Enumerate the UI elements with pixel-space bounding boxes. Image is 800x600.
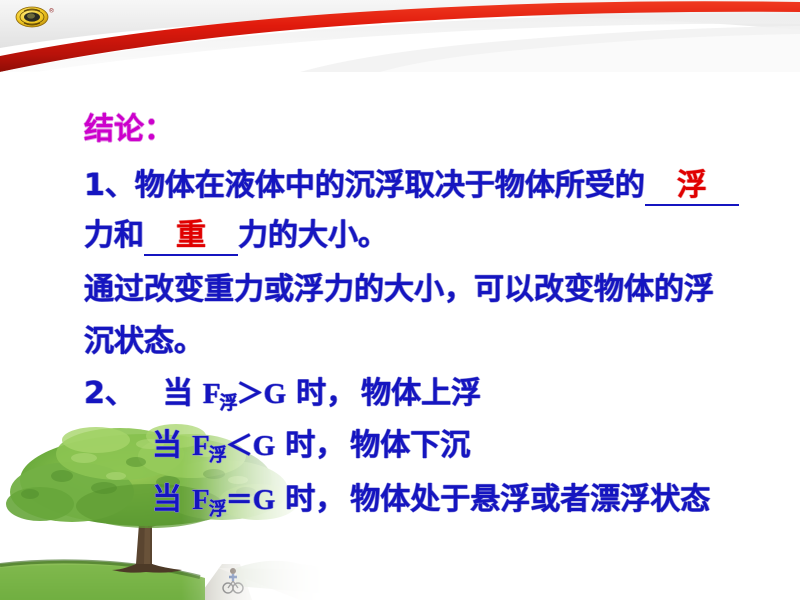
case-down-force-subscript: 浮	[209, 445, 227, 466]
case-equal-force-symbol: F	[192, 484, 210, 516]
item1-line2-prefix: 力和	[84, 218, 144, 253]
case-equal-dang: 当	[152, 482, 182, 517]
case-equal-force-subscript: 浮	[209, 499, 227, 520]
conclusion-item-2-case-equal: 当F浮＝G时，物体处于悬浮或者漂浮状态	[152, 474, 710, 521]
slide-text-content: 结论： 1、物体在液体中的沉浮取决于物体所受的__浮__ 力和__重__力的大小…	[0, 0, 800, 600]
item1-line2-suffix: 力的大小。	[238, 218, 388, 253]
conclusion-item-2-case-down: 当F浮＜G时，物体下沉	[152, 420, 470, 467]
conclusion-item-1-line-3: 通过改变重力或浮力的大小，可以改变物体的浮	[84, 264, 714, 308]
case-up-gravity-symbol: G	[264, 378, 287, 410]
case-down-result: 物体下沉	[350, 428, 470, 463]
case-equal-shi: 时，	[285, 482, 345, 517]
blank-answer-gravity: __重__	[144, 218, 238, 256]
case-down-shi: 时，	[285, 428, 345, 463]
registered-trademark-mark: ®	[49, 8, 55, 15]
case-equal-operator: ＝	[226, 485, 253, 516]
case-down-force-symbol: F	[192, 430, 210, 462]
publisher-logo: ®	[14, 5, 56, 29]
case-up-operator: ＞	[237, 379, 264, 410]
slide-canvas: ® 结论： 1、物体在液体中的沉浮取决于物体所受的__浮__ 力和__重__力的…	[0, 0, 800, 600]
case-equal-result: 物体处于悬浮或者漂浮状态	[350, 482, 710, 517]
case-down-gravity-symbol: G	[253, 430, 276, 462]
case-up-dang: 当	[163, 376, 193, 411]
conclusion-item-1-line-1: 1、物体在液体中的沉浮取决于物体所受的__浮__	[84, 160, 739, 204]
conclusion-heading: 结论：	[84, 104, 174, 148]
case-down-dang: 当	[152, 428, 182, 463]
blank-answer-buoyancy: __浮__	[645, 168, 739, 206]
case-up-result: 物体上浮	[361, 376, 481, 411]
conclusion-item-1-line-4: 沉状态。	[84, 316, 204, 360]
case-up-force-symbol: F	[203, 378, 221, 410]
case-down-operator: ＜	[226, 431, 253, 462]
case-up-shi: 时，	[296, 376, 356, 411]
case-equal-gravity-symbol: G	[253, 484, 276, 516]
conclusion-item-2-case-up: 2、当F浮＞G时，物体上浮	[84, 368, 481, 415]
item1-prefix-text: 1、物体在液体中的沉浮取决于物体所受的	[84, 168, 645, 203]
header-banner	[0, 0, 800, 72]
case-up-force-subscript: 浮	[220, 393, 238, 414]
conclusion-item-1-line-2: 力和__重__力的大小。	[84, 210, 388, 254]
item2-number: 2、	[84, 376, 135, 411]
